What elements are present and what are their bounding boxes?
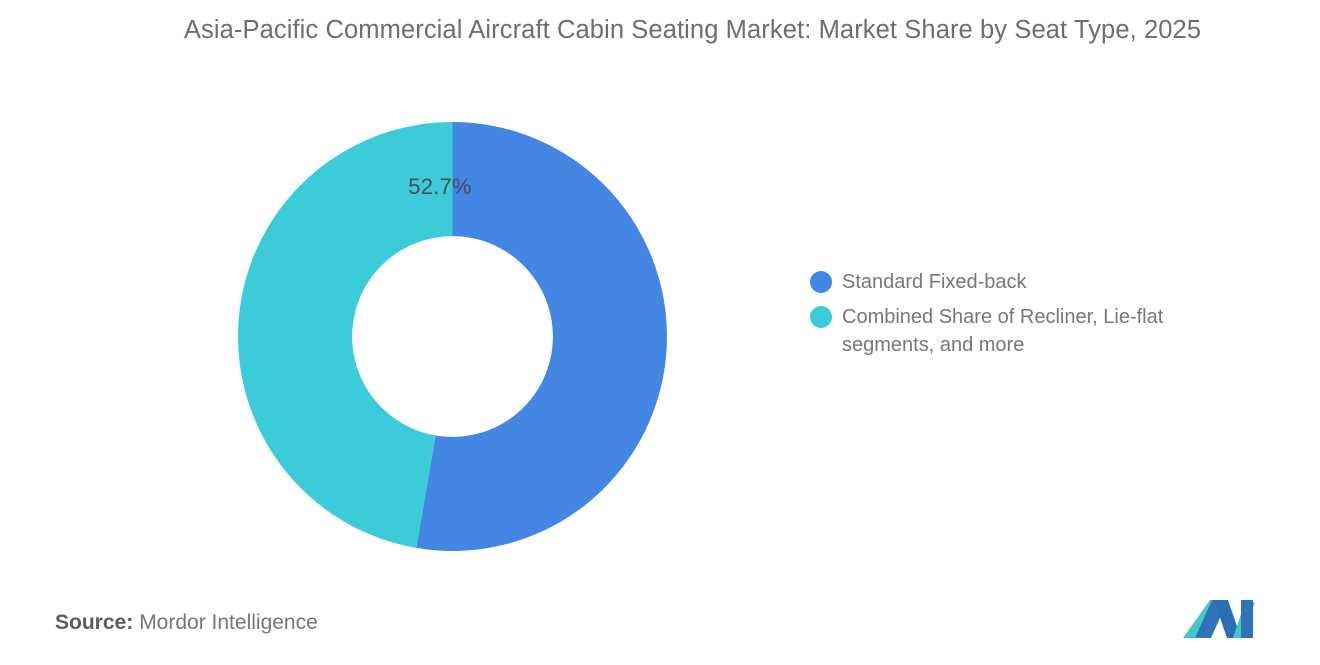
donut-chart bbox=[238, 122, 667, 551]
mordor-intelligence-logo-icon bbox=[1183, 598, 1255, 638]
legend-color-swatch-teal-icon bbox=[810, 306, 832, 328]
legend-item-label: Standard Fixed-back bbox=[842, 268, 1027, 296]
legend-item-standard-fixed-back[interactable]: Standard Fixed-back bbox=[810, 268, 1270, 296]
legend-item-label: Combined Share of Recliner, Lie-flat seg… bbox=[842, 303, 1222, 359]
source-label: Source: bbox=[55, 611, 133, 634]
chart-canvas: Asia-Pacific Commercial Aircraft Cabin S… bbox=[0, 0, 1320, 665]
legend-item-combined-share[interactable]: Combined Share of Recliner, Lie-flat seg… bbox=[810, 303, 1270, 359]
legend-color-swatch-blue-icon bbox=[810, 271, 832, 293]
source-value: Mordor Intelligence bbox=[139, 611, 318, 634]
chart-legend: Standard Fixed-back Combined Share of Re… bbox=[810, 268, 1270, 366]
donut-chart-svg bbox=[238, 122, 667, 551]
page-title: Asia-Pacific Commercial Aircraft Cabin S… bbox=[155, 10, 1230, 51]
source-attribution: Source:Mordor Intelligence bbox=[55, 611, 318, 635]
donut-slice[interactable] bbox=[238, 122, 453, 548]
logo-mark-svg bbox=[1183, 598, 1255, 638]
donut-slice[interactable] bbox=[416, 122, 667, 551]
